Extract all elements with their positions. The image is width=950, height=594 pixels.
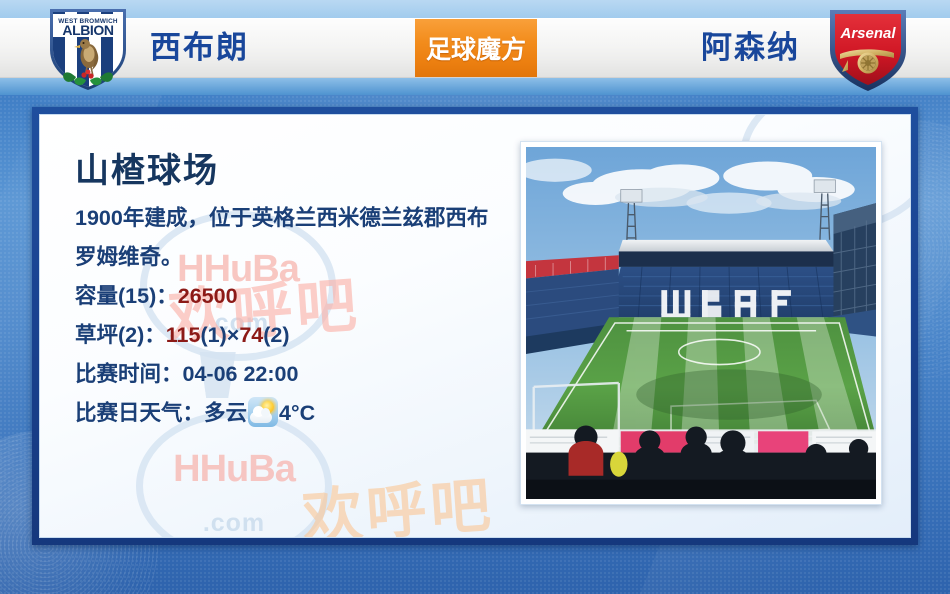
pitch-size-separator: × <box>227 323 240 347</box>
stadium-photo-frame[interactable] <box>520 141 882 505</box>
stadium-description: 1900年建成，位于英格兰西米德兰兹郡西布罗姆维奇。 <box>75 199 495 277</box>
capacity-value: 26500 <box>178 284 238 308</box>
away-team-name: 阿森纳 <box>701 24 800 72</box>
svg-text:ALBION: ALBION <box>62 22 114 38</box>
weather-condition: 多云 <box>204 401 247 425</box>
match-header: WEST BROMWICH ALBION <box>0 0 950 95</box>
stadium-card-frame: HHuBa .com HHuBa .com .com 欢呼吧 欢呼吧 山楂球场 … <box>32 107 918 545</box>
watermark-brand-latin: HHuBa <box>143 448 325 491</box>
svg-text:Arsenal: Arsenal <box>839 25 896 42</box>
pitch-width-rank: (2) <box>263 323 289 347</box>
pitch-size-line: 草坪(2)：115(1)×74(2) <box>75 316 505 355</box>
home-team-name: 西布朗 <box>150 24 249 72</box>
match-time-label: 比赛时间： <box>75 362 183 386</box>
brand-badge-label: 足球魔方 <box>426 30 526 66</box>
pitch-width: 74 <box>239 323 263 347</box>
capacity-label: 容量(15)： <box>75 284 178 308</box>
partly-cloudy-sun-icon <box>248 397 278 427</box>
west-bromwich-albion-crest[interactable]: WEST BROMWICH ALBION <box>44 4 132 92</box>
capacity-line: 容量(15)：26500 <box>75 277 505 316</box>
stadium-title: 山楂球场 <box>75 149 505 193</box>
the-hawthorns-stadium-photo <box>526 147 876 499</box>
pitch-length: 115 <box>166 323 201 347</box>
pitch-length-rank: (1) <box>200 323 226 347</box>
weather-temperature: 4°C <box>279 401 315 425</box>
brand-badge[interactable]: 足球魔方 <box>415 19 537 77</box>
stadium-info-card-page: WEST BROMWICH ALBION <box>0 0 950 594</box>
arsenal-crest[interactable]: Arsenal <box>824 4 912 92</box>
match-time-line: 比赛时间：04-06 22:00 <box>75 355 505 394</box>
match-time-value: 04-06 22:00 <box>183 362 299 386</box>
cloud-shape <box>250 412 272 423</box>
watermark-brand-cn: 欢呼吧 <box>299 456 497 538</box>
watermark-brand-domain: .com <box>143 509 325 538</box>
match-weather-line: 比赛日天气：多云 4°C <box>75 394 505 433</box>
stadium-card: HHuBa .com HHuBa .com .com 欢呼吧 欢呼吧 山楂球场 … <box>39 114 911 538</box>
weather-label: 比赛日天气： <box>75 401 204 425</box>
pitch-label: 草坪(2)： <box>75 323 166 347</box>
stadium-info-block: 山楂球场 1900年建成，位于英格兰西米德兰兹郡西布罗姆维奇。 容量(15)：2… <box>75 149 505 433</box>
